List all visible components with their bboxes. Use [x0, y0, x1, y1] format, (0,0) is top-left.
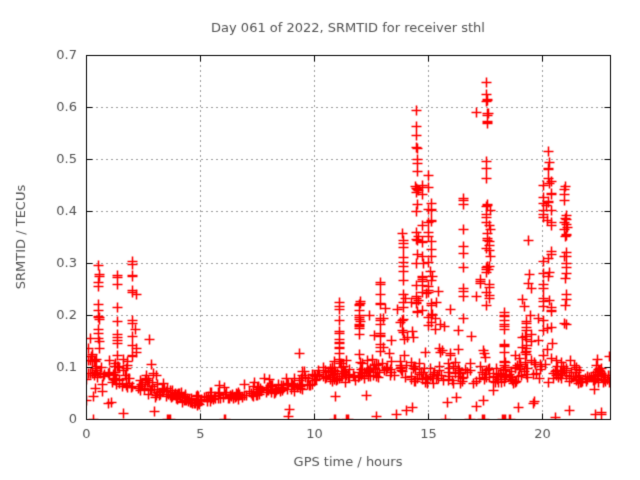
- chart-plot-area: [0, 0, 640, 480]
- gnuplot-scatter-figure: Day 061 of 2022, SRMTID for receiver sth…: [0, 0, 640, 480]
